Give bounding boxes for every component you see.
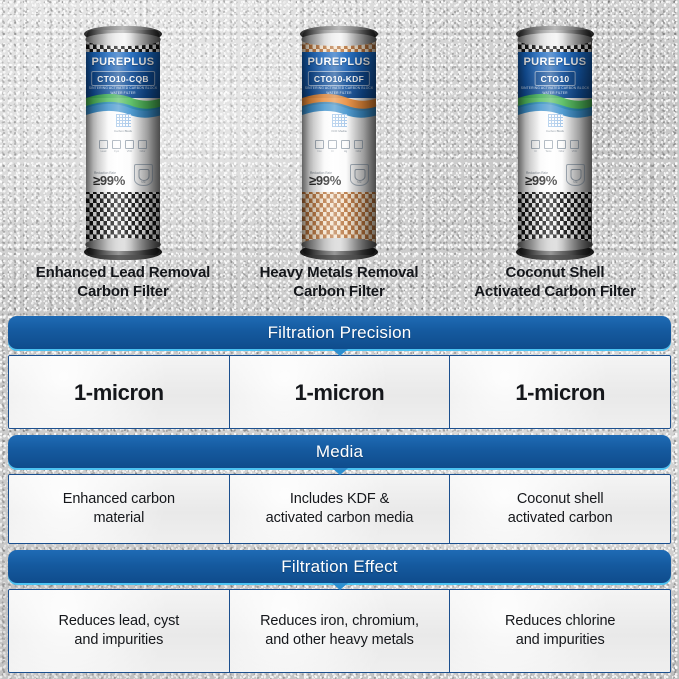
mini-label-3c: Odor (557, 150, 566, 153)
kdf-grid-icon-2 (332, 114, 347, 127)
section-title-media: Media (316, 442, 363, 462)
icon-caption-2: KDF Media (309, 129, 369, 133)
table-row-filtration-effect: Reduces lead, cystand impurities Reduces… (8, 589, 671, 673)
label-icon-block-2: KDF Media Iron Cr Hg Odor (309, 114, 369, 153)
certification-badge-1: NSF (134, 164, 153, 186)
product-caption-3: Coconut Shell Activated Carbon Filter (442, 263, 668, 301)
section-title-filtration-effect: Filtration Effect (281, 557, 397, 577)
model-badge-1: CTO10-CQB (91, 71, 155, 86)
rim-bottom-1 (85, 238, 161, 251)
badge-inner-shield-1 (138, 169, 149, 181)
model-badge-3: CTO10 (535, 71, 576, 86)
product-card-2: PUREPLUS CTO10-KDF SINTERING ACTIVATED C… (226, 0, 452, 310)
brand-text-3: PUREPLUS (518, 56, 592, 68)
reduction-rate-value-2: ≥99% (309, 173, 341, 188)
mini-label-3b: Taste (544, 150, 553, 153)
table-row-filtration-precision: 1-micron 1-micron 1-micron (8, 355, 671, 429)
caption-line-2b: Carbon Filter (293, 283, 384, 300)
rim-top-2 (301, 33, 377, 46)
cell-text-effect-1: Reduces lead, cystand impurities (58, 612, 179, 650)
certification-badge-3: NSF (566, 164, 585, 186)
mini-icon-2b (328, 140, 337, 149)
product-card-3: PUREPLUS CTO10 SINTERING ACTIVATED CARBO… (442, 0, 668, 310)
cell-text-media-1: Enhanced carbonmaterial (63, 490, 175, 528)
section-title-filtration-precision: Filtration Precision (268, 323, 412, 343)
cartridge-body-1: PUREPLUS CTO10-CQB SINTERING ACTIVATED C… (86, 30, 160, 255)
caption-line-1a: Enhanced Lead Removal (36, 264, 210, 281)
mini-label-2c: Hg (341, 150, 350, 153)
mini-icon-2d (354, 140, 363, 149)
product-card-1: PUREPLUS CTO10-CQB SINTERING ACTIVATED C… (10, 0, 236, 310)
reduction-rate-value-3: ≥99% (525, 173, 557, 188)
mini-icon-1b (112, 140, 121, 149)
section-filtration-precision: Filtration Precision 1-micron 1-micron 1… (8, 316, 671, 429)
mini-label-1b: Cyst (112, 150, 121, 153)
label-icon-block-1: Carbon Block Lead Cyst VOC Odor (93, 114, 153, 153)
cell-text-precision-1: 1-micron (74, 383, 164, 402)
filter-cartridge-1: PUREPLUS CTO10-CQB SINTERING ACTIVATED C… (86, 30, 160, 255)
cell-precision-col3: 1-micron (450, 356, 670, 428)
mini-icon-3c (557, 140, 566, 149)
mini-icon-1a (99, 140, 108, 149)
model-badge-2: CTO10-KDF (308, 71, 370, 86)
badge-inner-shield-3 (570, 169, 581, 181)
product-caption-1: Enhanced Lead Removal Carbon Filter (10, 263, 236, 301)
mini-icon-3a (531, 140, 540, 149)
rim-bottom-3 (517, 238, 593, 251)
table-row-media: Enhanced carbonmaterial Includes KDF &ac… (8, 474, 671, 544)
section-header-media: Media (8, 435, 671, 468)
mini-icon-1d (138, 140, 147, 149)
mini-icon-1c (125, 140, 134, 149)
mini-icon-row-2: Iron Cr Hg Odor (309, 140, 369, 153)
mini-icon-row-3: Cl Taste Odor VOC (525, 140, 585, 153)
section-media: Media Enhanced carbonmaterial Includes K… (8, 435, 671, 544)
cell-effect-col3: Reduces chlorineand impurities (450, 590, 670, 672)
rim-top-1 (85, 33, 161, 46)
cell-effect-col2: Reduces iron, chromium,and other heavy m… (230, 590, 451, 672)
icon-caption-1: Carbon Block (93, 129, 153, 133)
cell-text-media-3: Coconut shellactivated carbon (508, 490, 613, 528)
mini-label-1a: Lead (99, 150, 108, 153)
badge-text-3: NSF (567, 181, 584, 184)
badge-text-1: NSF (135, 181, 152, 184)
filter-cartridge-2: PUREPLUS CTO10-KDF SINTERING ACTIVATED C… (302, 30, 376, 255)
chevron-down-icon-1 (332, 349, 348, 356)
cell-precision-col2: 1-micron (230, 356, 451, 428)
cell-media-col2: Includes KDF &activated carbon media (230, 475, 451, 543)
cartridge-body-3: PUREPLUS CTO10 SINTERING ACTIVATED CARBO… (518, 30, 592, 255)
reduction-rate-value-1: ≥99% (93, 173, 125, 188)
mini-label-2d: Odor (354, 150, 363, 153)
product-label-3: PUREPLUS CTO10 SINTERING ACTIVATED CARBO… (518, 52, 592, 192)
chevron-down-icon-2 (332, 468, 348, 475)
chevron-down-icon-3 (332, 583, 348, 590)
cell-text-precision-3: 1-micron (515, 383, 605, 402)
product-gallery: PUREPLUS CTO10-CQB SINTERING ACTIVATED C… (0, 0, 679, 310)
cell-text-precision-2: 1-micron (295, 383, 385, 402)
certification-badge-2: NSF (350, 164, 369, 186)
badge-inner-shield-2 (354, 169, 365, 181)
rim-bottom-2 (301, 238, 377, 251)
caption-line-3a: Coconut Shell (506, 264, 605, 281)
icon-caption-3: Carbon Block (525, 129, 585, 133)
mini-icon-3b (544, 140, 553, 149)
mini-label-1d: Odor (138, 150, 147, 153)
rim-top-3 (517, 33, 593, 46)
product-caption-2: Heavy Metals Removal Carbon Filter (226, 263, 452, 301)
mini-label-3d: VOC (570, 150, 579, 153)
label-icon-block-3: Carbon Block Cl Taste Odor VOC (525, 114, 585, 153)
filter-cartridge-3: PUREPLUS CTO10 SINTERING ACTIVATED CARBO… (518, 30, 592, 255)
carbon-grid-icon-3 (548, 114, 563, 127)
cartridge-body-2: PUREPLUS CTO10-KDF SINTERING ACTIVATED C… (302, 30, 376, 255)
mini-icon-3d (570, 140, 579, 149)
product-label-1: PUREPLUS CTO10-CQB SINTERING ACTIVATED C… (86, 52, 160, 192)
caption-line-1b: Carbon Filter (77, 283, 168, 300)
section-header-filtration-effect: Filtration Effect (8, 550, 671, 583)
cell-precision-col1: 1-micron (9, 356, 230, 428)
mini-icon-2a (315, 140, 324, 149)
caption-line-3b: Activated Carbon Filter (474, 283, 636, 300)
brand-text-2: PUREPLUS (302, 56, 376, 68)
cell-media-col3: Coconut shellactivated carbon (450, 475, 670, 543)
cell-text-media-2: Includes KDF &activated carbon media (266, 490, 414, 528)
carbon-grid-icon-1 (116, 114, 131, 127)
cell-text-effect-3: Reduces chlorineand impurities (505, 612, 615, 650)
product-label-2: PUREPLUS CTO10-KDF SINTERING ACTIVATED C… (302, 52, 376, 192)
mini-label-3a: Cl (531, 150, 540, 153)
badge-text-2: NSF (351, 181, 368, 184)
mini-icon-row-1: Lead Cyst VOC Odor (93, 140, 153, 153)
mini-label-1c: VOC (125, 150, 134, 153)
mini-label-2b: Cr (328, 150, 337, 153)
cell-effect-col1: Reduces lead, cystand impurities (9, 590, 230, 672)
cell-text-effect-2: Reduces iron, chromium,and other heavy m… (260, 612, 419, 650)
comparison-table: Filtration Precision 1-micron 1-micron 1… (8, 316, 671, 679)
cell-media-col1: Enhanced carbonmaterial (9, 475, 230, 543)
section-filtration-effect: Filtration Effect Reduces lead, cystand … (8, 550, 671, 673)
brand-text-1: PUREPLUS (86, 56, 160, 68)
section-header-filtration-precision: Filtration Precision (8, 316, 671, 349)
mini-icon-2c (341, 140, 350, 149)
caption-line-2a: Heavy Metals Removal (260, 264, 419, 281)
mini-label-2a: Iron (315, 150, 324, 153)
